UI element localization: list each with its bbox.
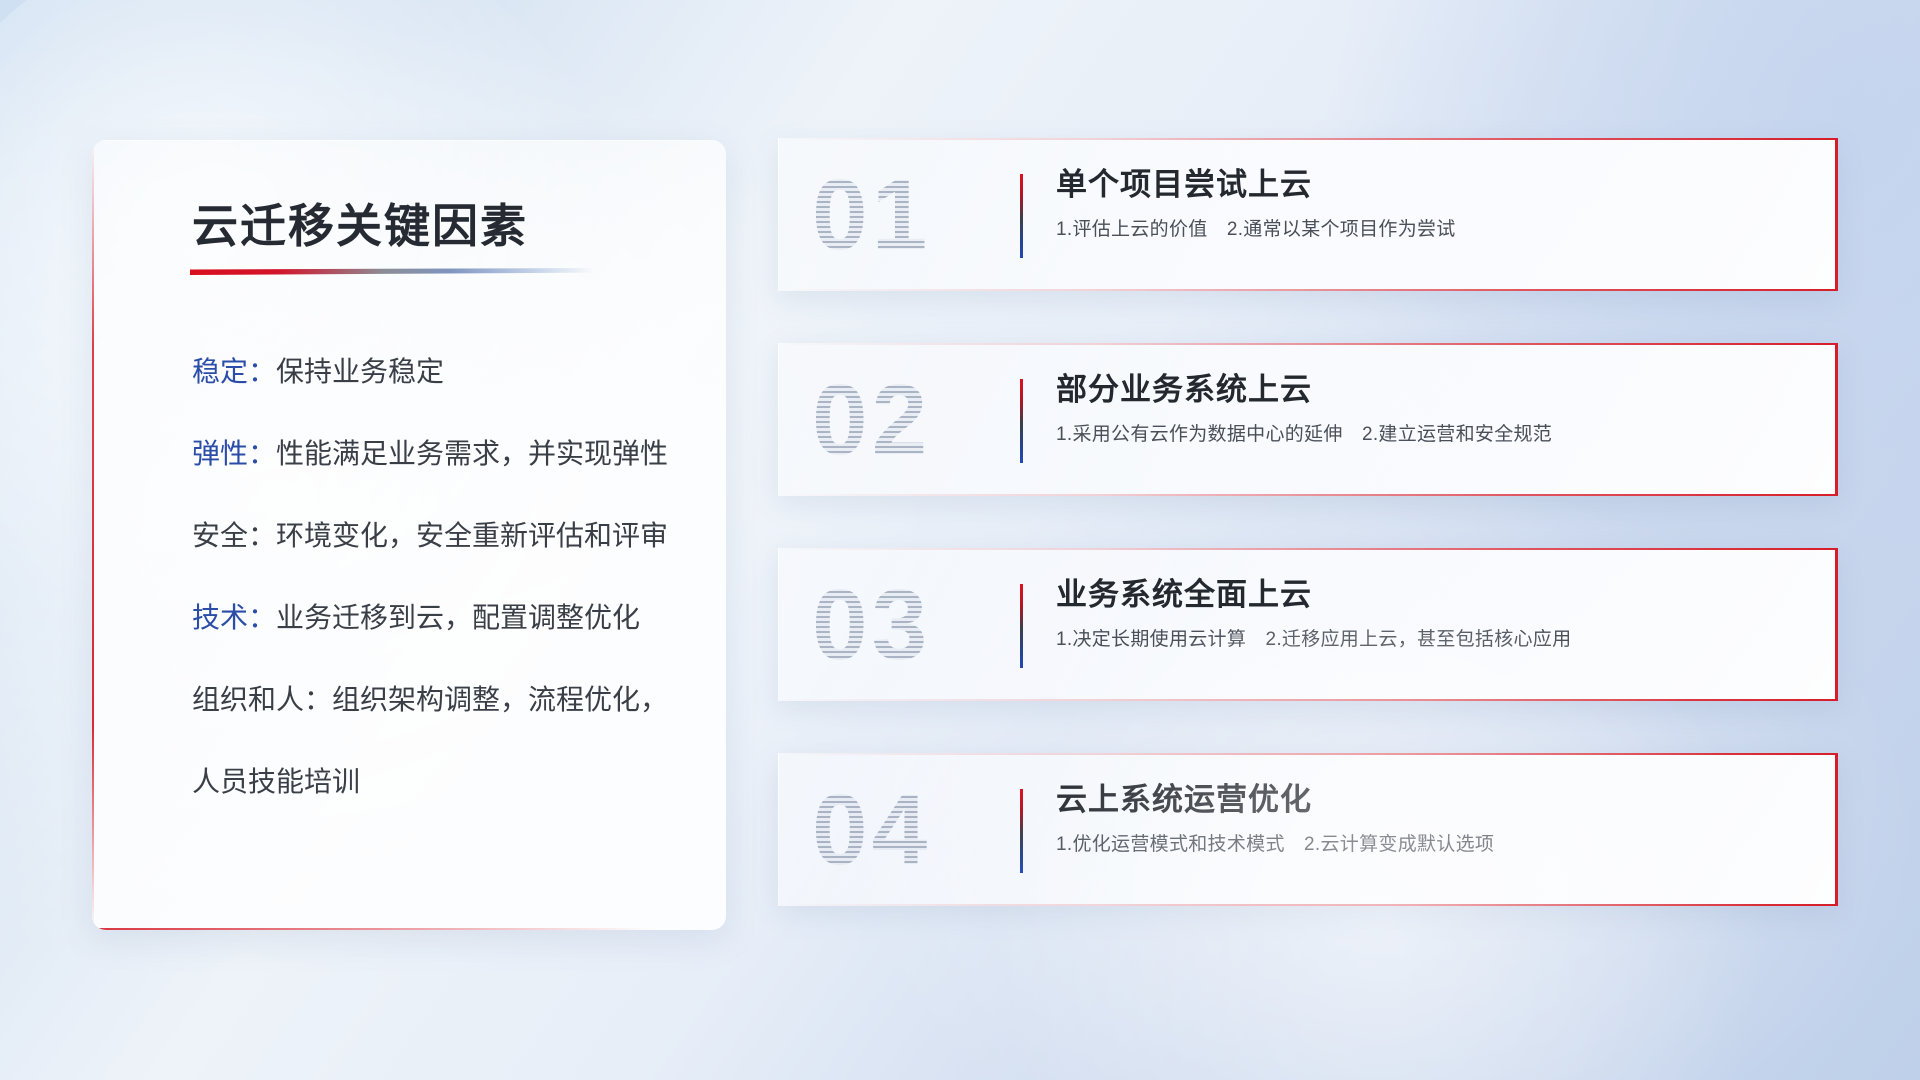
list-item: 稳定：保持业务稳定: [192, 358, 678, 386]
stage-card-list: 01 01 单个项目尝试上云 1.评估上云的价值 2.通常以某个项目作为尝试 0…: [778, 138, 1838, 906]
card-description: 1.优化运营模式和技术模式 2.云计算变成默认选项: [1056, 834, 1798, 857]
factor-value: 人员技能培训: [192, 766, 360, 797]
list-item: 技术：业务迁移到云，配置调整优化: [192, 604, 678, 632]
card-bottom-border: [778, 699, 1838, 701]
card-left-highlight: [778, 753, 779, 906]
factor-value: 业务迁移到云，配置调整优化: [276, 602, 640, 633]
list-item: 弹性：性能满足业务需求，并实现弹性: [192, 440, 678, 468]
slide-canvas: 云迁移关键因素 稳定：保持业务稳定 弹性：性能满足业务需求，并实现弹性 安全：环…: [0, 0, 1920, 1080]
factor-value: 保持业务稳定: [276, 356, 444, 387]
card-right-accent: [1835, 343, 1838, 496]
stage-card[interactable]: 01 01 单个项目尝试上云 1.评估上云的价值 2.通常以某个项目作为尝试: [778, 138, 1838, 291]
factor-label: 弹性：: [192, 438, 276, 469]
card-description: 1.决定长期使用云计算 2.迁移应用上云，甚至包括核心应用: [1056, 629, 1798, 652]
card-title: 单个项目尝试上云: [1056, 168, 1798, 202]
panel-left-accent-bar: [92, 140, 94, 930]
card-title: 部分业务系统上云: [1056, 373, 1798, 407]
card-body: 云上系统运营优化 1.优化运营模式和技术模式 2.云计算变成默认选项: [1056, 783, 1798, 857]
stage-card[interactable]: 03 03 业务系统全面上云 1.决定长期使用云计算 2.迁移应用上云，甚至包括…: [778, 548, 1838, 701]
card-divider-bar: [1020, 174, 1023, 258]
card-divider-bar: [1020, 379, 1023, 463]
card-description: 1.评估上云的价值 2.通常以某个项目作为尝试: [1056, 219, 1798, 242]
title-underline-gradient: [190, 268, 594, 275]
card-body: 单个项目尝试上云 1.评估上云的价值 2.通常以某个项目作为尝试: [1056, 168, 1798, 242]
card-left-highlight: [778, 343, 779, 496]
stage-card[interactable]: 04 04 云上系统运营优化 1.优化运营模式和技术模式 2.云计算变成默认选项: [778, 753, 1838, 906]
list-item-continuation: 人员技能培训: [192, 768, 678, 796]
card-bottom-border: [778, 494, 1838, 496]
list-item: 组织和人：组织架构调整，流程优化，: [192, 686, 678, 714]
factor-label: 安全：: [192, 520, 276, 551]
card-right-accent: [1835, 138, 1838, 291]
card-left-highlight: [778, 548, 779, 701]
card-divider-bar: [1020, 584, 1023, 668]
step-number: 01: [812, 156, 998, 274]
card-top-border: [778, 753, 1838, 755]
step-number: 04: [812, 771, 998, 889]
key-factors-panel: 云迁移关键因素 稳定：保持业务稳定 弹性：性能满足业务需求，并实现弹性 安全：环…: [92, 140, 726, 930]
card-title: 业务系统全面上云: [1056, 578, 1798, 612]
factor-label: 组织和人：: [192, 684, 332, 715]
card-bottom-border: [778, 904, 1838, 906]
card-left-highlight: [778, 138, 779, 291]
card-body: 业务系统全面上云 1.决定长期使用云计算 2.迁移应用上云，甚至包括核心应用: [1056, 578, 1798, 652]
factor-label: 技术：: [192, 602, 276, 633]
factor-list: 稳定：保持业务稳定 弹性：性能满足业务需求，并实现弹性 安全：环境变化，安全重新…: [192, 358, 678, 796]
panel-bottom-accent-bar: [92, 928, 726, 930]
card-divider-bar: [1020, 789, 1023, 873]
card-right-accent: [1835, 753, 1838, 906]
factor-value: 环境变化，安全重新评估和评审: [276, 520, 668, 551]
factor-value: 组织架构调整，流程优化，: [332, 684, 668, 715]
factor-label: 稳定：: [192, 356, 276, 387]
card-top-border: [778, 343, 1838, 345]
card-body: 部分业务系统上云 1.采用公有云作为数据中心的延伸 2.建立运营和安全规范: [1056, 373, 1798, 447]
card-top-border: [778, 548, 1838, 550]
card-right-accent: [1835, 548, 1838, 701]
list-item: 安全：环境变化，安全重新评估和评审: [192, 522, 678, 550]
factor-value: 性能满足业务需求，并实现弹性: [276, 438, 668, 469]
card-title: 云上系统运营优化: [1056, 783, 1798, 817]
card-bottom-border: [778, 289, 1838, 291]
panel-top-highlight: [92, 140, 726, 141]
card-description: 1.采用公有云作为数据中心的延伸 2.建立运营和安全规范: [1056, 424, 1798, 447]
card-top-border: [778, 138, 1838, 140]
step-number: 02: [812, 361, 998, 479]
stage-card[interactable]: 02 02 部分业务系统上云 1.采用公有云作为数据中心的延伸 2.建立运营和安…: [778, 343, 1838, 496]
step-number: 03: [812, 566, 998, 684]
page-title: 云迁移关键因素: [192, 190, 528, 256]
